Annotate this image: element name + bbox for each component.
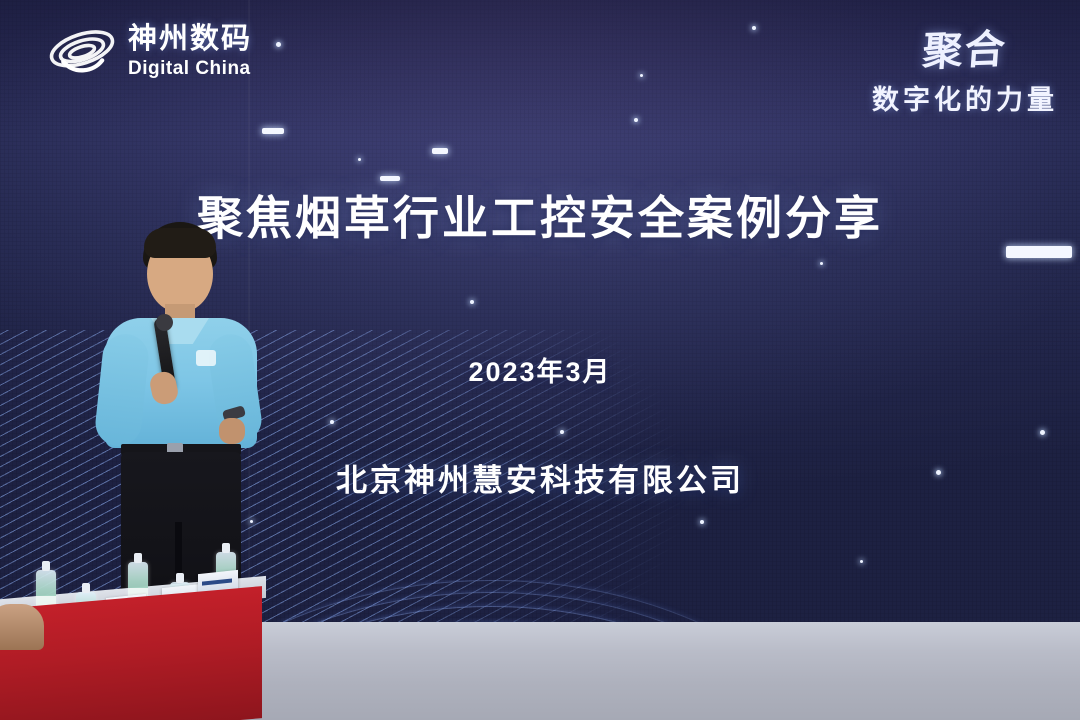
particle	[640, 74, 643, 77]
microphone-head	[156, 314, 173, 331]
presenter	[95, 222, 270, 622]
conference-photo: 神州数码 Digital China 聚合 数字化的力量 聚焦烟草行业工控安全案…	[0, 0, 1080, 720]
brand-name-cn: 神州数码	[128, 25, 252, 54]
particle	[276, 42, 281, 47]
head-table-cloth	[0, 586, 262, 720]
particle	[820, 262, 823, 265]
shirt-logo-icon	[196, 350, 216, 366]
particle	[470, 300, 474, 304]
light-dash	[432, 148, 448, 154]
particle	[1040, 430, 1045, 435]
particle	[560, 430, 564, 434]
particle	[860, 560, 863, 563]
seated-attendee	[0, 604, 44, 650]
campaign-subtitle: 数字化的力量	[872, 78, 1058, 117]
particle	[752, 26, 756, 30]
light-dash	[380, 176, 400, 181]
particle	[700, 520, 704, 524]
particle	[330, 420, 334, 424]
light-dash	[262, 128, 284, 134]
particle	[358, 158, 361, 161]
digital-china-swirl-icon	[46, 20, 118, 82]
campaign-slogan: 聚合 数字化的力量	[872, 18, 1058, 117]
presenter-right-hand	[219, 418, 245, 444]
brand-lockup: 神州数码 Digital China	[46, 20, 252, 82]
campaign-calligraphy: 聚合	[870, 15, 1061, 79]
presenter-hair-front	[144, 228, 216, 258]
particle	[634, 118, 638, 122]
brand-name-en: Digital China	[128, 59, 252, 78]
